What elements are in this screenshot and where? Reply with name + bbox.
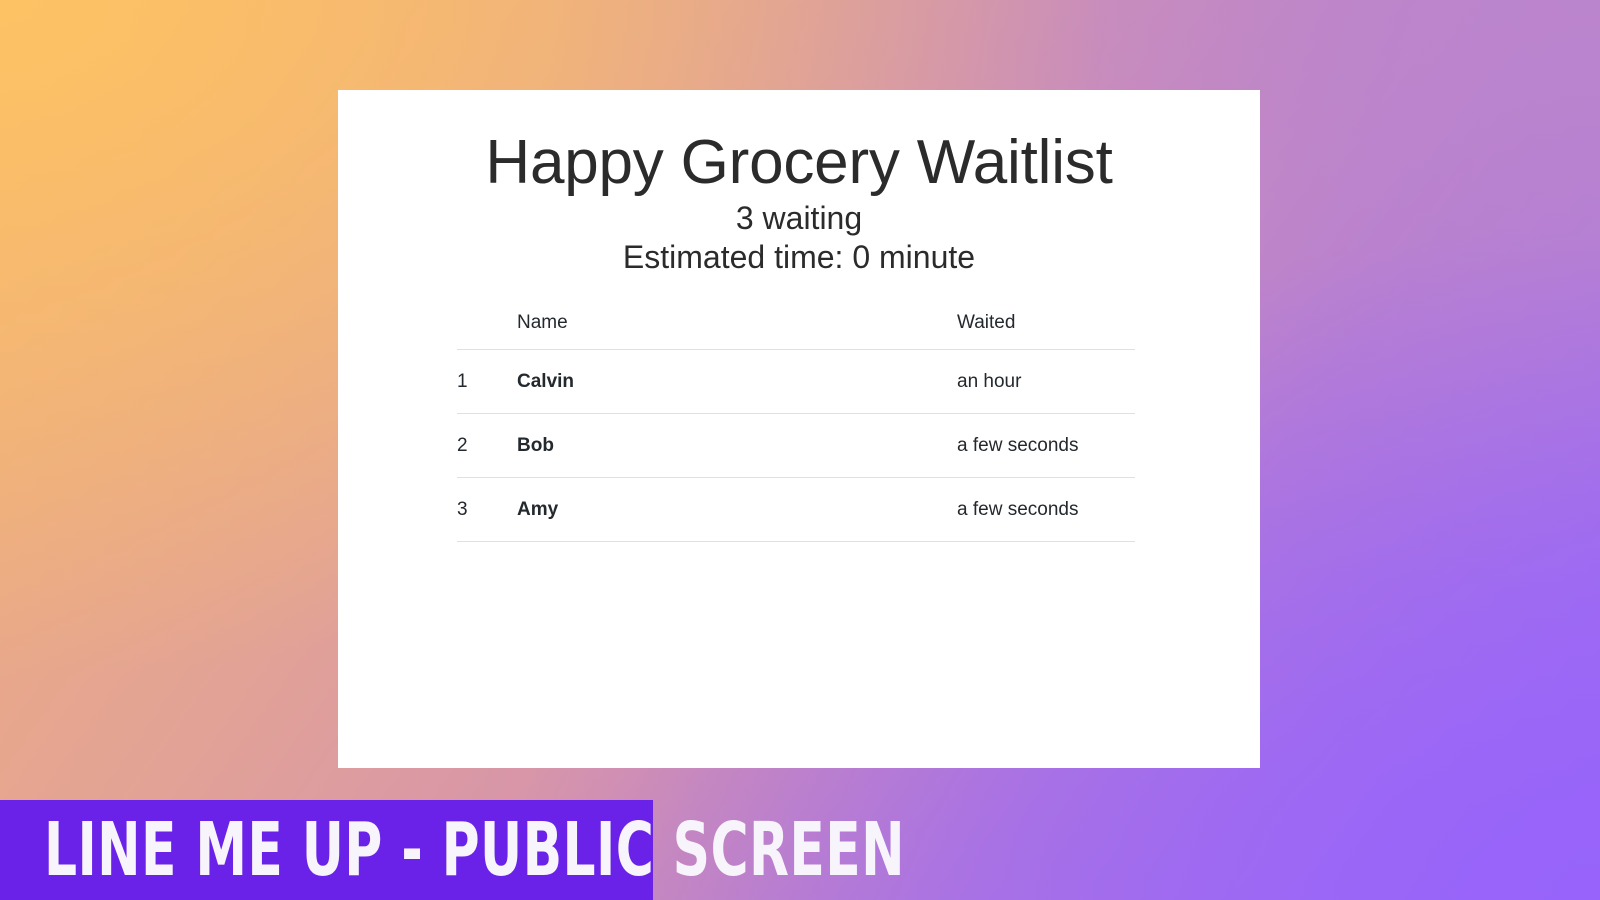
- caption-banner: LINE ME UP - PUBLIC SCREEN: [0, 800, 653, 900]
- waitlist-table-container: Name Waited 1 Calvin an hour 2 Bob a few…: [338, 297, 1260, 542]
- row-index: 2: [457, 414, 517, 478]
- caption-label: LINE ME UP - PUBLIC SCREEN: [44, 813, 905, 887]
- column-header-name: Name: [517, 297, 957, 350]
- table-header-row: Name Waited: [457, 297, 1135, 350]
- row-index: 3: [457, 478, 517, 542]
- waitlist-table: Name Waited 1 Calvin an hour 2 Bob a few…: [457, 297, 1135, 542]
- card-content: Happy Grocery Waitlist 3 waiting Estimat…: [338, 90, 1260, 542]
- row-waited: a few seconds: [957, 478, 1135, 542]
- row-name: Calvin: [517, 350, 957, 414]
- column-header-index: [457, 297, 517, 350]
- row-index: 1: [457, 350, 517, 414]
- row-waited: an hour: [957, 350, 1135, 414]
- row-name: Bob: [517, 414, 957, 478]
- waiting-count: 3 waiting: [338, 199, 1260, 238]
- waitlist-card: Happy Grocery Waitlist 3 waiting Estimat…: [338, 90, 1260, 768]
- page-title: Happy Grocery Waitlist: [338, 126, 1260, 199]
- table-body: 1 Calvin an hour 2 Bob a few seconds 3 A…: [457, 350, 1135, 542]
- row-waited: a few seconds: [957, 414, 1135, 478]
- table-row: 1 Calvin an hour: [457, 350, 1135, 414]
- table-header: Name Waited: [457, 297, 1135, 350]
- row-name: Amy: [517, 478, 957, 542]
- estimated-time: Estimated time: 0 minute: [338, 238, 1260, 277]
- table-row: 2 Bob a few seconds: [457, 414, 1135, 478]
- table-row: 3 Amy a few seconds: [457, 478, 1135, 542]
- column-header-waited: Waited: [957, 297, 1135, 350]
